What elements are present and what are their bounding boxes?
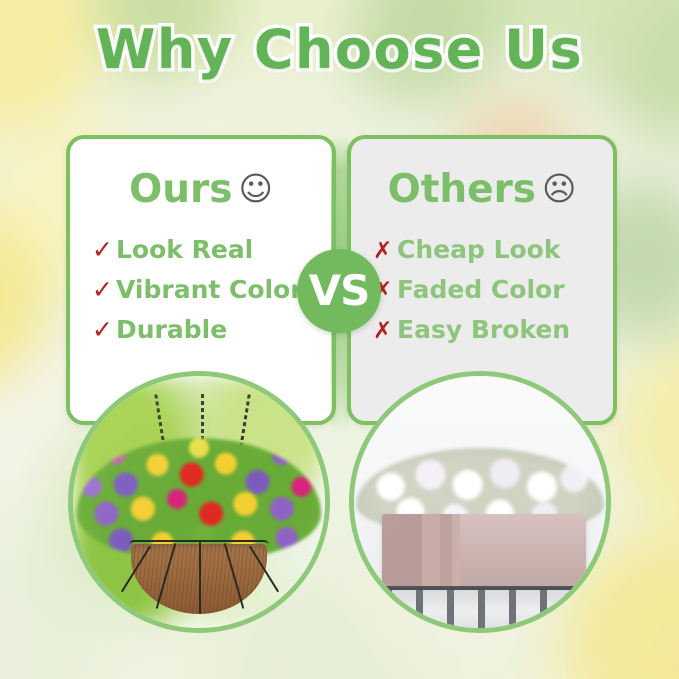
- check-icon: ✓: [92, 315, 116, 344]
- hanging-basket-colorful-flowers-photo: [68, 371, 330, 633]
- feature-label: Durable: [116, 315, 227, 344]
- list-item: ✗ Cheap Look: [373, 235, 603, 264]
- planter-box: [382, 514, 586, 596]
- panel-title-ours: Ours☺: [70, 167, 332, 212]
- list-item: ✗ Easy Broken: [373, 315, 603, 344]
- list-item: ✓ Durable: [92, 315, 322, 344]
- feature-label: Vibrant Color: [116, 275, 303, 304]
- product-photo-others-art: [354, 376, 606, 628]
- feature-list-others: ✗ Cheap Look ✗ Faded Color ✗ Easy Broken: [373, 235, 603, 355]
- balcony-railing: [354, 590, 606, 628]
- cross-icon: ✗: [373, 318, 397, 344]
- panel-title-ours-label: Ours: [129, 167, 232, 212]
- balcony-planter-faded-flowers-photo: [349, 371, 611, 633]
- check-icon: ✓: [92, 275, 116, 304]
- feature-label: Cheap Look: [397, 235, 560, 264]
- vs-badge-label: VS: [309, 270, 370, 312]
- panel-title-others-label: Others: [388, 167, 536, 212]
- vs-badge: VS: [297, 249, 381, 333]
- list-item: ✓ Vibrant Color: [92, 275, 322, 304]
- list-item: ✓ Look Real: [92, 235, 322, 264]
- feature-label: Easy Broken: [397, 315, 570, 344]
- check-icon: ✓: [92, 235, 116, 264]
- page-title: Why Choose Us: [0, 18, 679, 81]
- list-item: ✗ Faded Color: [373, 275, 603, 304]
- basket-wire-rib: [199, 542, 201, 614]
- product-photo-ours-art: [73, 376, 325, 628]
- feature-label: Look Real: [116, 235, 253, 264]
- cross-icon: ✗: [373, 238, 397, 264]
- frowning-face-icon: ☹: [542, 169, 576, 208]
- feature-list-ours: ✓ Look Real ✓ Vibrant Color ✓ Durable: [92, 235, 322, 355]
- panel-title-others: Others☹: [351, 167, 613, 212]
- smiley-face-icon: ☺: [238, 169, 272, 208]
- feature-label: Faded Color: [397, 275, 565, 304]
